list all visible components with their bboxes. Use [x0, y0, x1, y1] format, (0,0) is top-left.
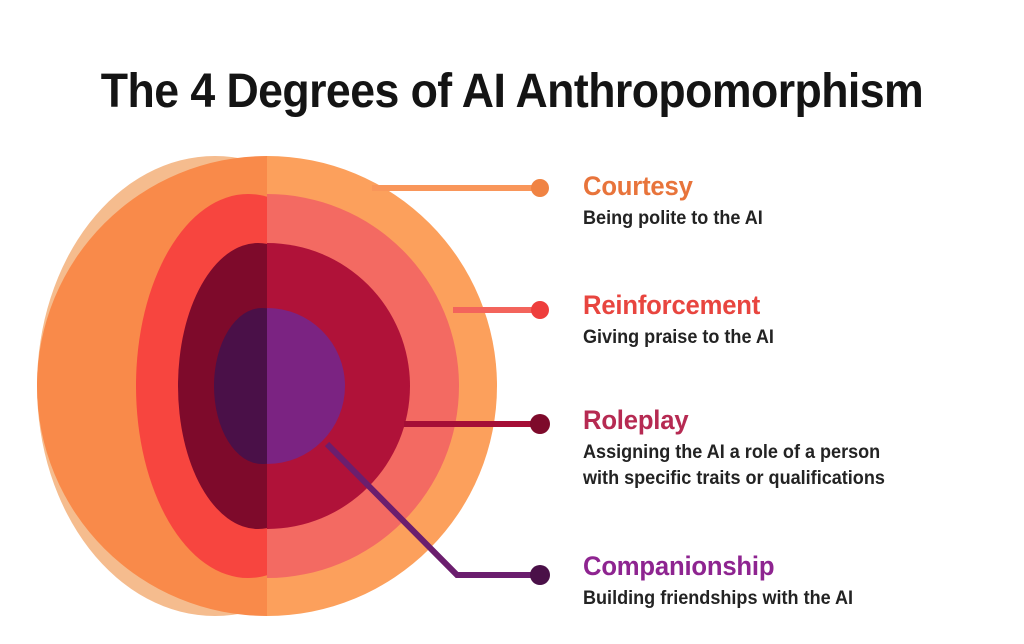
legend-item-courtesy[interactable]: Courtesy Being polite to the AI [583, 172, 772, 232]
connector-dot-roleplay [530, 414, 550, 434]
legend-desc-roleplay-line-2: with specific traits or qualifications [583, 466, 885, 491]
legend-desc-roleplay-line-1: Assigning the AI a role of a person [583, 440, 885, 465]
concentric-sphere-diagram [0, 0, 1024, 644]
connector-dot-courtesy [531, 179, 549, 197]
legend-desc-courtesy-line-1: Being polite to the AI [583, 206, 763, 231]
legend-heading-companionship: Companionship [583, 552, 853, 580]
legend-heading-courtesy: Courtesy [583, 172, 763, 200]
legend-item-companionship[interactable]: Companionship Building friendships with … [583, 552, 867, 612]
connector-dot-companionship [530, 565, 550, 585]
legend-desc-reinforcement-line-1: Giving praise to the AI [583, 325, 774, 350]
legend-heading-roleplay: Roleplay [583, 406, 885, 434]
connector-courtesy [372, 179, 549, 197]
legend-item-reinforcement[interactable]: Reinforcement Giving praise to the AI [583, 291, 784, 351]
connector-dot-reinforcement [531, 301, 549, 319]
legend-desc-companionship-line-1: Building friendships with the AI [583, 586, 853, 611]
legend-heading-reinforcement: Reinforcement [583, 291, 774, 319]
legend-item-roleplay[interactable]: Roleplay Assigning the AI a role of a pe… [583, 406, 901, 491]
infographic-canvas: The 4 Degrees of AI Anthropomorphism [0, 0, 1024, 644]
